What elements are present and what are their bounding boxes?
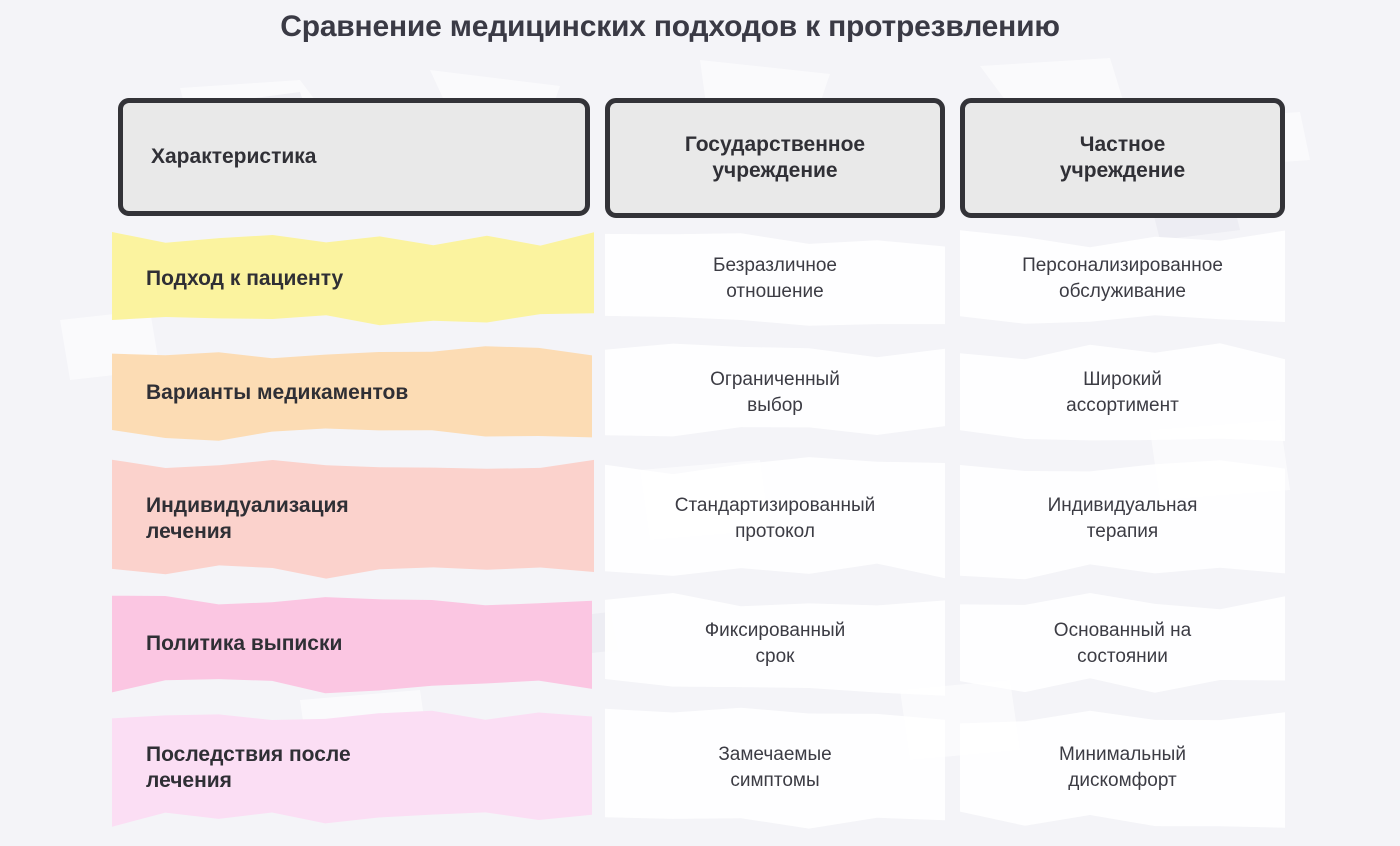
row-label-line-1: Варианты медикаментов xyxy=(146,380,408,406)
row-value-line-2: срок xyxy=(705,644,846,670)
row-value-cell: Безразличноеотношение xyxy=(605,228,945,330)
row-label-line-2: лечения xyxy=(146,768,351,794)
row-value-line-1: Широкий xyxy=(1066,367,1179,393)
row-label-text: Варианты медикаментов xyxy=(112,380,426,406)
row-label-cell: Политика выписки xyxy=(112,590,592,698)
row-label-line-1: Последствия после xyxy=(146,742,351,768)
row-label-cell: Индивидуализациялечения xyxy=(112,455,594,583)
row-value-text: Минимальныйдискомфорт xyxy=(1049,742,1196,794)
table-header-state-institution: Государственное учреждение xyxy=(605,98,945,218)
row-label-cell: Подход к пациенту xyxy=(112,228,594,330)
row-value-cell: Индивидуальнаятерапия xyxy=(960,455,1285,583)
row-value-line-1: Стандартизированный xyxy=(675,493,876,519)
row-value-cell: Стандартизированныйпротокол xyxy=(605,455,945,583)
row-value-line-1: Основанный на xyxy=(1054,618,1191,644)
row-value-line-2: обслуживание xyxy=(1022,279,1223,305)
row-value-line-2: симптомы xyxy=(718,768,831,794)
row-label-line-1: Политика выписки xyxy=(146,631,342,657)
row-value-line-1: Минимальный xyxy=(1059,742,1186,768)
row-value-text: Основанный насостоянии xyxy=(1044,618,1201,670)
row-value-text: Широкийассортимент xyxy=(1056,367,1189,419)
row-value-line-2: дискомфорт xyxy=(1059,768,1186,794)
table-header-characteristic: Характеристика xyxy=(118,98,590,216)
table-row: Подход к пациентуБезразличноеотношениеПе… xyxy=(0,228,1400,330)
row-value-text: Замечаемыесимптомы xyxy=(708,742,841,794)
row-value-line-1: Фиксированный xyxy=(705,618,846,644)
row-label-cell: Последствия послелечения xyxy=(112,705,592,831)
row-label-line-1: Индивидуализация xyxy=(146,493,349,519)
row-value-line-2: выбор xyxy=(710,393,840,419)
row-value-line-1: Ограниченный xyxy=(710,367,840,393)
header-line-1: Государственное xyxy=(685,132,865,158)
row-label-text: Подход к пациенту xyxy=(112,266,361,292)
header-line-2: учреждение xyxy=(1060,158,1185,184)
row-value-text: Ограниченныйвыбор xyxy=(700,367,850,419)
row-value-cell: Фиксированныйсрок xyxy=(605,590,945,698)
row-label-text: Политика выписки xyxy=(112,631,360,657)
row-label-text: Индивидуализациялечения xyxy=(112,493,367,546)
row-value-cell: Ограниченныйвыбор xyxy=(605,341,945,445)
table-header-private-institution: Частное учреждение xyxy=(960,98,1285,218)
row-value-text: Персонализированноеобслуживание xyxy=(1012,253,1233,305)
table-row: ИндивидуализациялеченияСтандартизированн… xyxy=(0,455,1400,583)
row-value-line-1: Замечаемые xyxy=(718,742,831,768)
row-value-text: Безразличноеотношение xyxy=(703,253,847,305)
row-value-cell: Основанный насостоянии xyxy=(960,590,1285,698)
row-label-line-1: Подход к пациенту xyxy=(146,266,343,292)
row-value-line-2: терапия xyxy=(1048,519,1198,545)
header-line-1: Характеристика xyxy=(151,144,316,170)
row-label-text: Последствия послелечения xyxy=(112,742,369,795)
header-line-2: учреждение xyxy=(685,158,865,184)
row-value-line-2: отношение xyxy=(713,279,837,305)
comparison-table: Характеристика Государственное учреждени… xyxy=(0,0,1400,846)
row-value-line-1: Индивидуальная xyxy=(1048,493,1198,519)
row-value-line-1: Безразличное xyxy=(713,253,837,279)
row-value-cell: Замечаемыесимптомы xyxy=(605,705,945,831)
table-row: Последствия послелеченияЗамечаемыесимпто… xyxy=(0,705,1400,831)
row-value-line-2: ассортимент xyxy=(1066,393,1179,419)
row-value-line-2: протокол xyxy=(675,519,876,545)
table-row: Варианты медикаментовОграниченныйвыборШи… xyxy=(0,341,1400,445)
row-value-text: Индивидуальнаятерапия xyxy=(1038,493,1208,545)
row-value-cell: Минимальныйдискомфорт xyxy=(960,705,1285,831)
row-value-line-1: Персонализированное xyxy=(1022,253,1223,279)
row-value-line-2: состоянии xyxy=(1054,644,1191,670)
header-line-1: Частное xyxy=(1060,132,1185,158)
row-label-cell: Варианты медикаментов xyxy=(112,341,592,445)
table-row: Политика выпискиФиксированныйсрокОснован… xyxy=(0,590,1400,698)
row-value-cell: Широкийассортимент xyxy=(960,341,1285,445)
row-value-text: Фиксированныйсрок xyxy=(695,618,856,670)
page-title: Сравнение медицинских подходов к протрез… xyxy=(0,10,1340,44)
row-value-text: Стандартизированныйпротокол xyxy=(665,493,886,545)
row-label-line-2: лечения xyxy=(146,519,349,545)
row-value-cell: Персонализированноеобслуживание xyxy=(960,228,1285,330)
